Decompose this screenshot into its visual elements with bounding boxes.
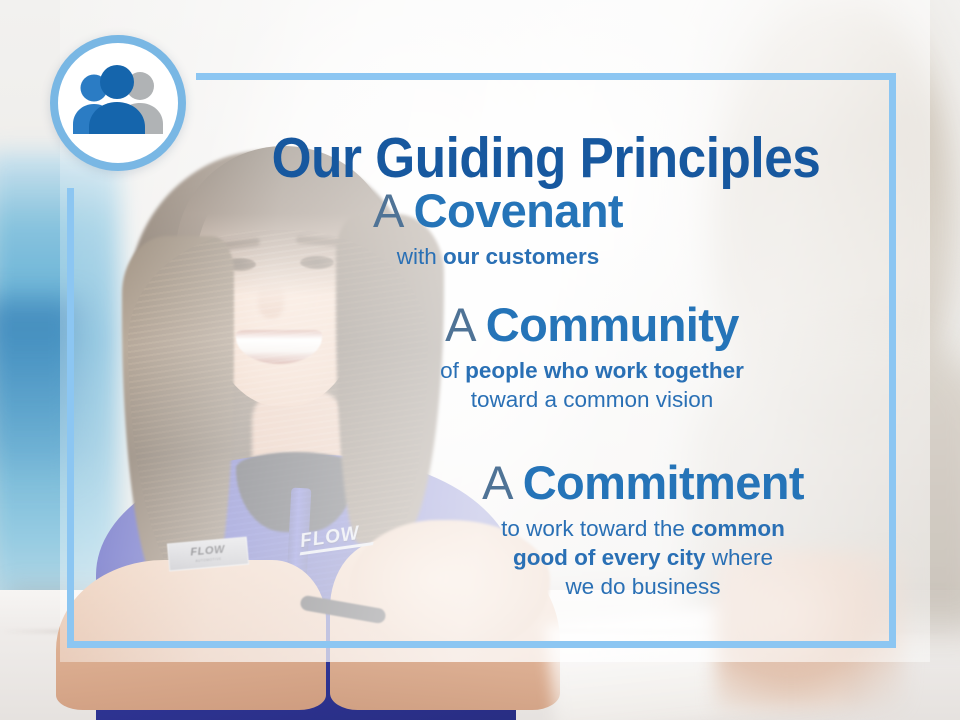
emphasis-text: good of every city <box>513 545 706 570</box>
principle-description-line: good of every city where <box>398 543 888 572</box>
principle-keyword: Commitment <box>523 456 804 509</box>
frame-border-left <box>67 188 74 648</box>
emphasis-text: people who work together <box>465 358 744 383</box>
principle-description-line: toward a common vision <box>352 385 832 414</box>
people-group-badge <box>50 35 186 171</box>
principle-description: with our customers <box>278 242 718 271</box>
principle-headline: A Commitment <box>398 458 888 508</box>
principle-community: A Communityof people who work togetherto… <box>352 300 832 414</box>
plain-text: of <box>440 358 465 383</box>
principle-keyword: Covenant <box>414 184 623 237</box>
principle-commitment: A Commitmentto work toward the commongoo… <box>398 458 888 602</box>
principle-description-line: we do business <box>398 572 888 601</box>
emphasis-text: our customers <box>443 244 599 269</box>
plain-text: to work toward the <box>501 516 691 541</box>
principle-description: of people who work togethertoward a comm… <box>352 356 832 415</box>
plain-text: with <box>397 244 443 269</box>
principle-article: A <box>373 184 414 237</box>
principle-covenant: A Covenantwith our customers <box>278 186 718 271</box>
frame-border-right <box>889 73 896 648</box>
page-title: Our Guiding Principles <box>231 130 861 187</box>
people-group-icon <box>64 64 172 142</box>
principle-description-line: of people who work together <box>352 356 832 385</box>
principle-keyword: Community <box>486 298 739 351</box>
principle-description: to work toward the commongood of every c… <box>398 514 888 602</box>
principle-headline: A Covenant <box>278 186 718 236</box>
promotional-banner: FLOW AUTOMOTIVE FLOW Our Guiding Princip… <box>0 0 960 720</box>
principle-headline: A Community <box>352 300 832 350</box>
plain-text: where <box>706 545 774 570</box>
plain-text: we do business <box>565 574 720 599</box>
principle-description-line: with our customers <box>278 242 718 271</box>
plain-text: toward a common vision <box>471 387 714 412</box>
principle-article: A <box>482 456 523 509</box>
emphasis-text: common <box>691 516 785 541</box>
principle-article: A <box>445 298 486 351</box>
principle-description-line: to work toward the common <box>398 514 888 543</box>
frame-border-bottom <box>67 641 896 648</box>
frame-border-top <box>196 73 896 80</box>
